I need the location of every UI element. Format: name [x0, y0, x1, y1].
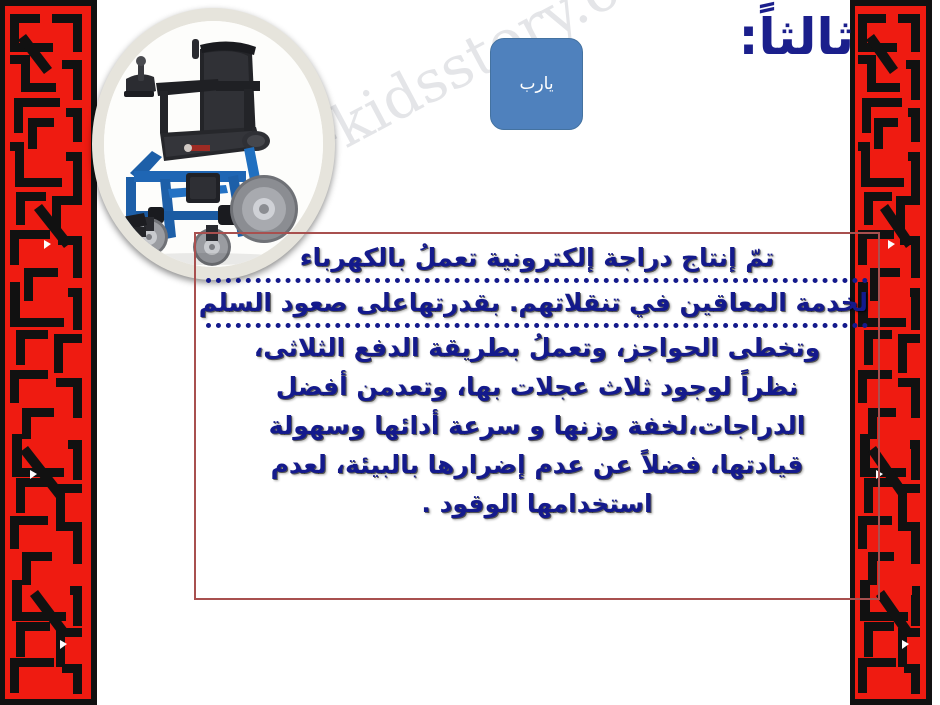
content-line: وتخطى الحواجز، وتعملُ بطريقة الدفع الثلا… — [206, 328, 868, 367]
content-line: الدراجات،لخفة وزنها و سرعة أدائها وسهولة — [206, 406, 868, 445]
yarab-button[interactable]: يارب — [490, 38, 583, 130]
kufic-pattern-icon — [0, 0, 97, 705]
electric-wheelchair-icon — [104, 21, 323, 267]
content-line: قيادتها، فضلاً عن عدم إضرارها بالبيئة، ل… — [206, 445, 868, 484]
content-textbox: تمّ إنتاج دراجة إلكترونية تعملُ بالكهربا… — [194, 232, 880, 600]
slide-canvas: Edu-kidsstory.org — [0, 0, 940, 705]
content-line: استخدامها الوقود . — [206, 484, 868, 523]
content-line: لخدمة المعاقين في تنقلاتهم. بقدرتهاعلى ص… — [206, 283, 868, 328]
yarab-button-label: يارب — [519, 74, 553, 94]
content-line: تمّ إنتاج دراجة إلكترونية تعملُ بالكهربا… — [206, 238, 868, 283]
wheelchair-photo — [104, 21, 323, 267]
content-line: نظراً لوجود ثلاث عجلات بها، وتعدمن أفضل — [206, 367, 868, 406]
content-paragraph: تمّ إنتاج دراجة إلكترونية تعملُ بالكهربا… — [206, 238, 868, 523]
kufic-border-left — [0, 0, 97, 705]
page-title: ثالثاً: — [738, 8, 854, 66]
